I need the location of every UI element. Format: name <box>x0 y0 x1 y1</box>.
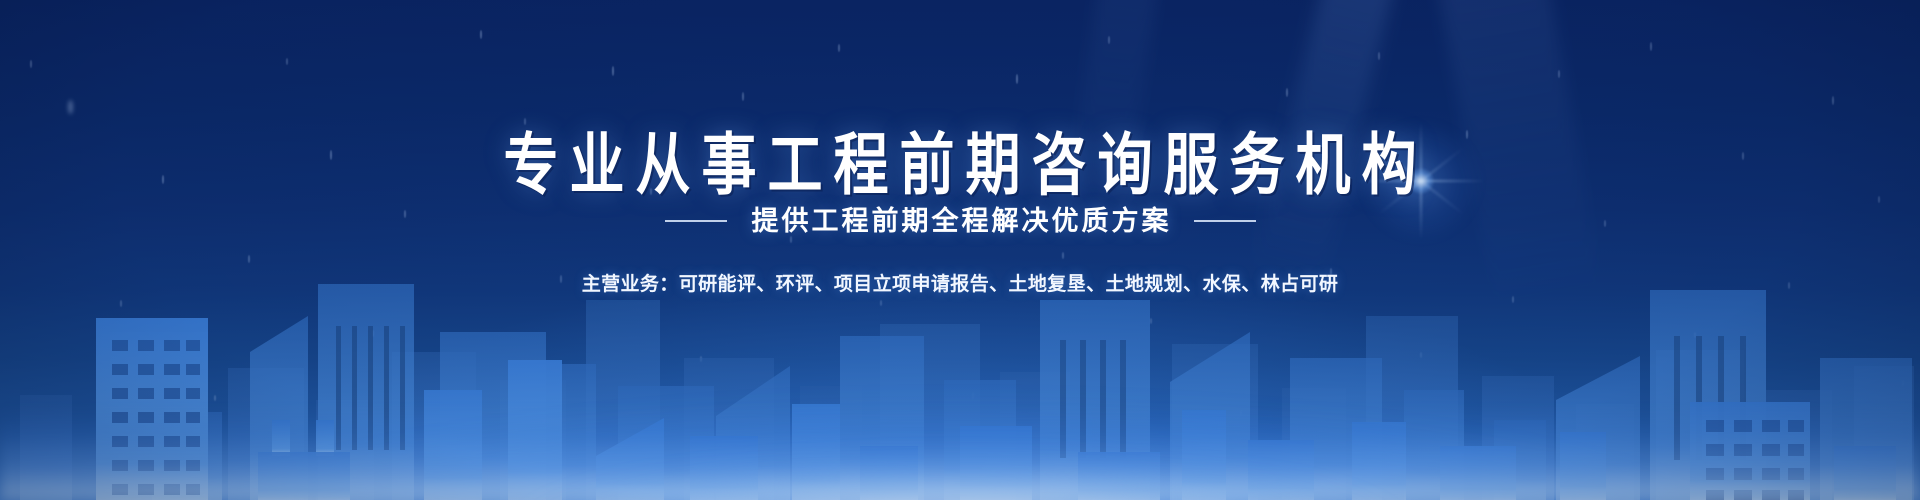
hero-banner: 专业从事工程前期咨询服务机构 提供工程前期全程解决优质方案 主营业务：可研能评、… <box>0 0 1920 500</box>
rule-left-icon <box>665 220 727 222</box>
rule-right-icon <box>1194 220 1256 222</box>
banner-content: 专业从事工程前期咨询服务机构 提供工程前期全程解决优质方案 主营业务：可研能评、… <box>0 0 1920 500</box>
banner-subline-row: 提供工程前期全程解决优质方案 <box>0 205 1920 237</box>
banner-subline: 提供工程前期全程解决优质方案 <box>749 205 1172 237</box>
banner-headline: 专业从事工程前期咨询服务机构 <box>0 128 1920 201</box>
banner-tagline: 主营业务：可研能评、环评、项目立项申请报告、土地复垦、土地规划、水保、林占可研 <box>0 272 1920 298</box>
